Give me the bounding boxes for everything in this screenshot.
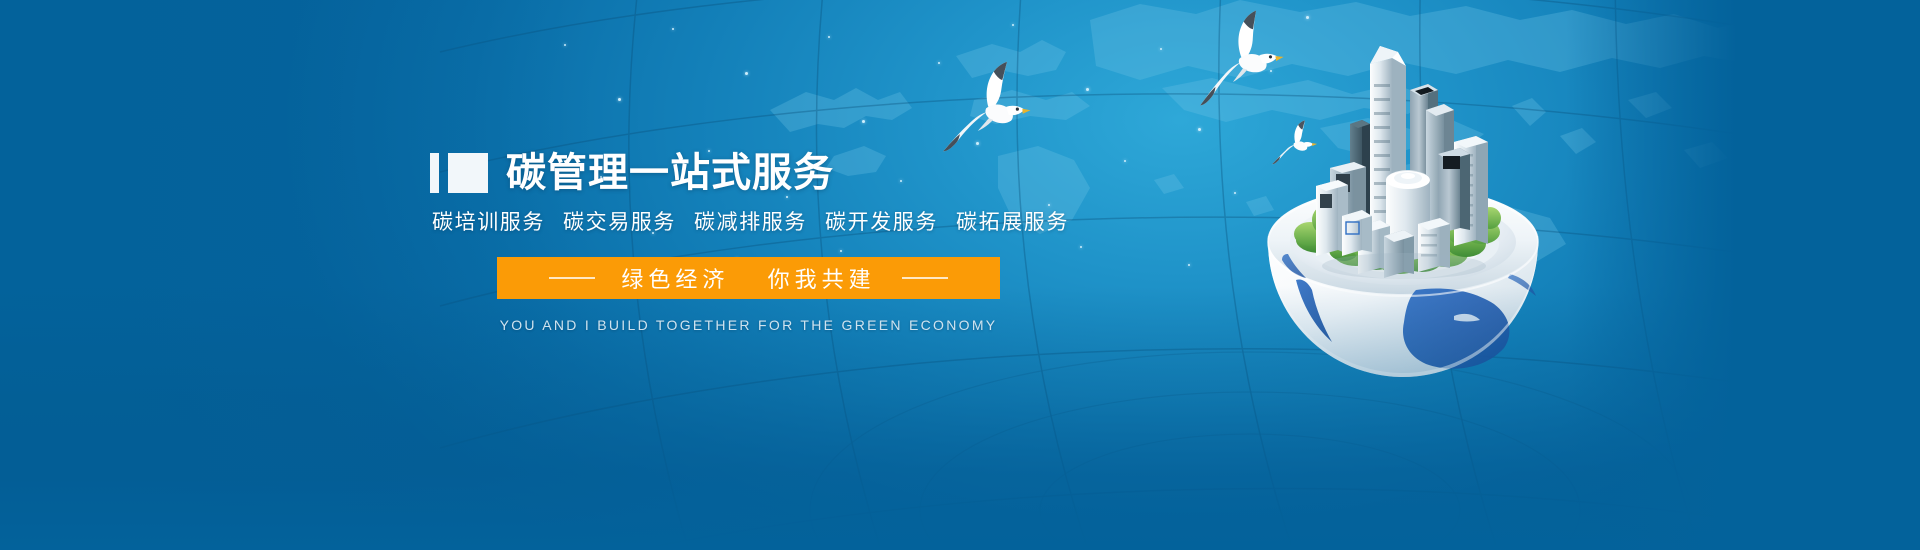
service-item-2[interactable]: 碳交易服务 [563,206,676,236]
photo-right-seam [1566,0,1736,550]
service-item-4[interactable]: 碳开发服务 [825,206,938,236]
hero-banner: 碳管理一站式服务 碳培训服务 碳交易服务 碳减排服务 碳开发服务 碳拓展服务 绿… [0,0,1920,550]
service-item-1[interactable]: 碳培训服务 [432,206,545,236]
slogan-part-1: 绿色经济 [621,267,729,292]
brand-mark-icon [430,153,488,193]
service-item-5[interactable]: 碳拓展服务 [956,206,1069,236]
brand-square-icon [448,153,488,193]
brand-bar-icon [430,153,439,193]
slogan-bar: 绿色经济 你我共建 [497,257,1000,299]
page-title: 碳管理一站式服务 [506,151,834,195]
english-tagline: YOU AND I BUILD TOGETHER FOR THE GREEN E… [497,317,1000,333]
slogan-text: 绿色经济 你我共建 [621,262,875,294]
slogan-rule-left-icon [549,277,595,279]
slogan-part-2: 你我共建 [768,267,876,292]
banner-copy: 碳管理一站式服务 碳培训服务 碳交易服务 碳减排服务 碳开发服务 碳拓展服务 绿… [430,150,1050,333]
service-list: 碳培训服务 碳交易服务 碳减排服务 碳开发服务 碳拓展服务 [432,206,1050,236]
slogan-rule-right-icon [902,277,948,279]
title-row: 碳管理一站式服务 [430,150,1050,196]
service-item-3[interactable]: 碳减排服务 [694,206,807,236]
